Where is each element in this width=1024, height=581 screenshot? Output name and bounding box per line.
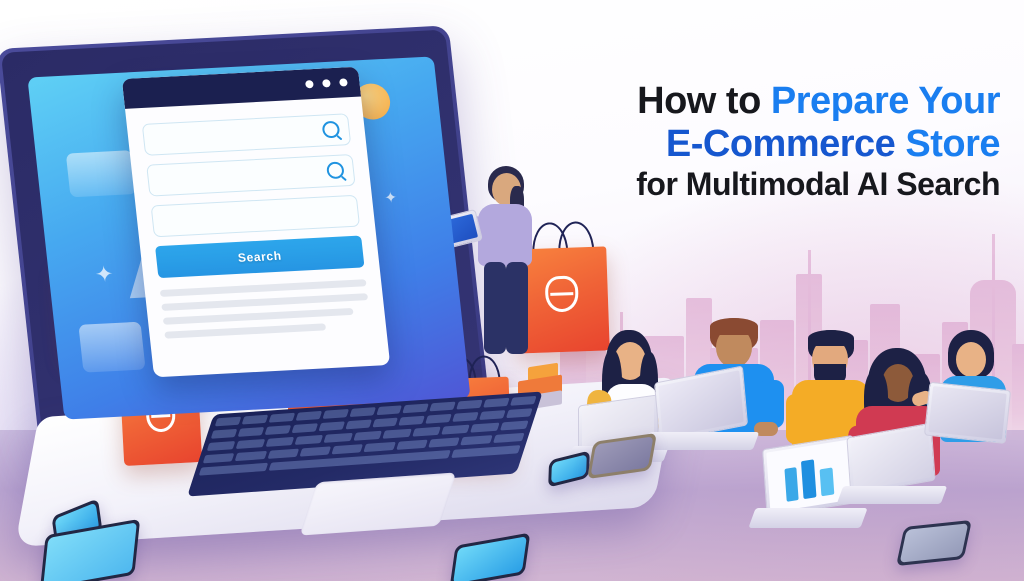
headline-line-1: How to Prepare Your — [520, 80, 1000, 123]
search-input-primary[interactable] — [142, 113, 351, 156]
search-submit-button[interactable]: Search — [155, 235, 364, 278]
chart-bar-0 — [784, 467, 799, 502]
page-title: How to Prepare Your E-Commerce Store for… — [520, 80, 1000, 203]
laptop-trackpad[interactable] — [300, 472, 457, 535]
result-placeholder-lines — [160, 279, 371, 339]
window-dot-maximize[interactable] — [305, 80, 314, 88]
search-input-tertiary[interactable] — [151, 195, 360, 238]
window-dot-minimize[interactable] — [322, 79, 331, 87]
headline-line-2-blue: E-Commerce — [666, 123, 905, 165]
browser-window: Search — [122, 67, 390, 378]
headline-line-2-blue-bright: Store — [905, 123, 1000, 165]
search-icon — [326, 161, 345, 179]
screen-card-upper — [66, 150, 137, 197]
headline-line-1-blue: Prepare Your — [771, 80, 1000, 122]
headline-line-3: for Multimodal AI Search — [520, 167, 1000, 203]
search-icon — [322, 121, 341, 139]
chart-bar-1 — [801, 460, 816, 499]
headline-line-1-dark: How to — [637, 80, 771, 122]
screen-card-lower — [78, 322, 145, 373]
window-dot-close[interactable] — [339, 78, 348, 86]
search-input-secondary[interactable] — [146, 154, 355, 197]
chart-bar-2 — [820, 467, 834, 496]
sparkle-icon-small: ✦ — [384, 190, 398, 206]
headline-line-2: E-Commerce Store — [520, 123, 1000, 166]
laptop-center-group[interactable] — [646, 374, 756, 460]
laptop-held-right[interactable] — [923, 382, 1015, 455]
hero-illustration: ✦ ✦ Search — [0, 0, 1024, 581]
sparkle-icon: ✦ — [94, 263, 115, 286]
